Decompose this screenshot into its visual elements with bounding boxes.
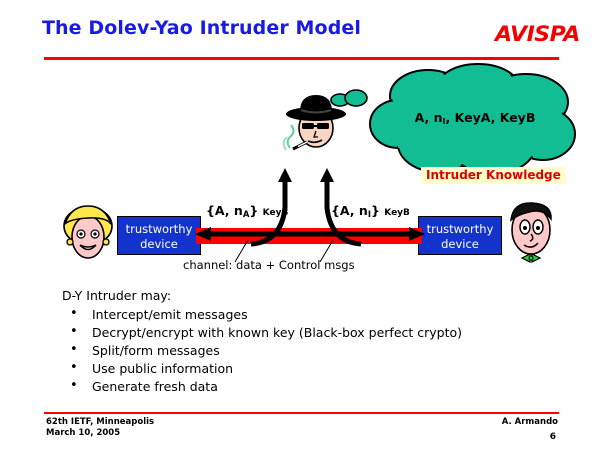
list-item: Decrypt/encrypt with known key (Black-bo… (62, 325, 532, 340)
channel-caption: channel: data + Control msgs (183, 258, 355, 272)
message-label-right: {A, nI} KeyB (331, 203, 410, 220)
footer-divider (44, 412, 559, 414)
footer-event-info: 62th IETF, Minneapolis March 10, 2005 (46, 417, 154, 439)
footer-date: March 10, 2005 (46, 428, 154, 439)
slide-root: The Dolev-Yao Intruder Model AVISPA (0, 0, 600, 450)
intruder-knowledge-label: Intruder Knowledge (421, 167, 566, 184)
capabilities-list: Intercept/emit messages Decrypt/encrypt … (62, 307, 532, 394)
capabilities-heading: D-Y Intruder may: (62, 288, 532, 303)
page-title: The Dolev-Yao Intruder Model (42, 17, 361, 39)
avatar-alice-icon (60, 204, 116, 262)
message-label-left: {A, nA} KeyB (206, 203, 288, 220)
footer-page-number: 6 (550, 432, 556, 442)
avatar-bob-icon (500, 200, 562, 266)
footer-event: 62th IETF, Minneapolis (46, 417, 154, 428)
list-item: Split/form messages (62, 343, 532, 358)
footer-author: A. Armando (502, 417, 558, 428)
list-item: Intercept/emit messages (62, 307, 532, 322)
cloud-knowledge-text: A, nI, KeyA, KeyB (390, 110, 560, 126)
title-divider (44, 57, 559, 60)
list-item: Use public information (62, 361, 532, 376)
list-item: Generate fresh data (62, 379, 532, 394)
avispa-logo: AVISPA (495, 22, 580, 46)
capabilities-block: D-Y Intruder may: Intercept/emit message… (62, 288, 532, 397)
